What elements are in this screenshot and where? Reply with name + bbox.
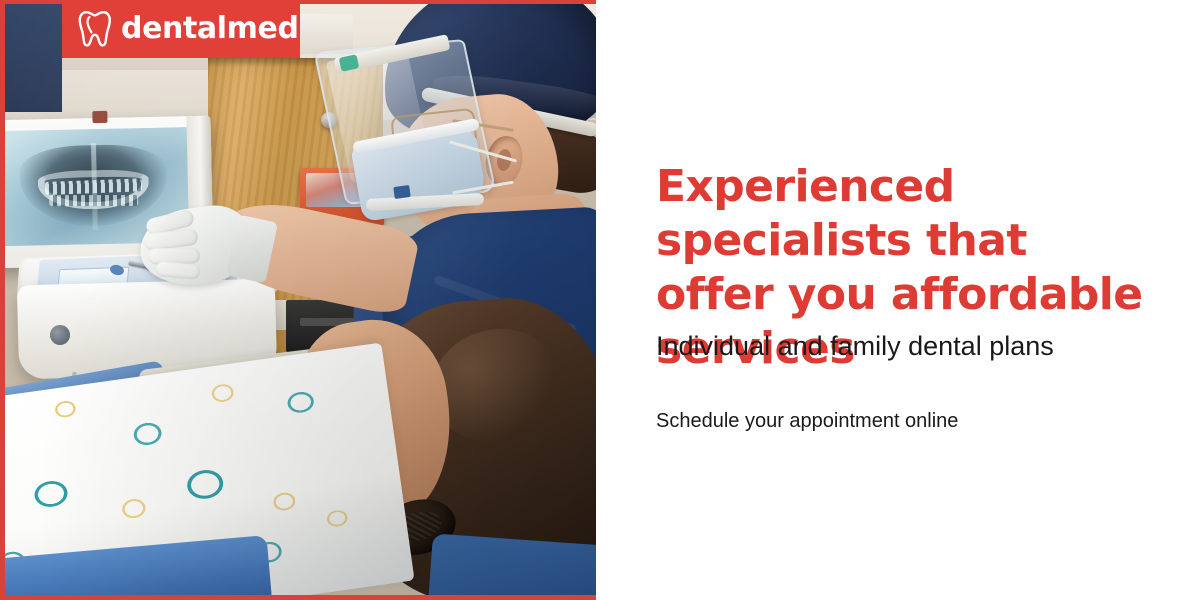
- subheadline: Individual and family dental plans: [656, 330, 1156, 362]
- tooth-icon: [78, 10, 112, 48]
- brand-name: dentalmed: [121, 14, 299, 44]
- lightbox-clip: [92, 111, 107, 123]
- photo-border-left: [0, 0, 5, 600]
- photo-scene: [0, 0, 596, 600]
- cta-text: Schedule your appointment online: [656, 409, 1156, 433]
- brand-logo[interactable]: dentalmed: [62, 0, 300, 58]
- dental-banner-ad: dentalmed Experienced specialists that o…: [0, 0, 1200, 600]
- hero-photo: [0, 0, 596, 600]
- wall-panel-dark: [0, 0, 62, 112]
- photo-border-bottom: [0, 595, 596, 600]
- cart-dial-icon: [50, 325, 70, 345]
- shelf-box: [295, 14, 353, 54]
- content-column: Experienced specialists that offer you a…: [656, 0, 1156, 600]
- dental-chair-back: [427, 533, 596, 600]
- mask-badge: [393, 185, 411, 199]
